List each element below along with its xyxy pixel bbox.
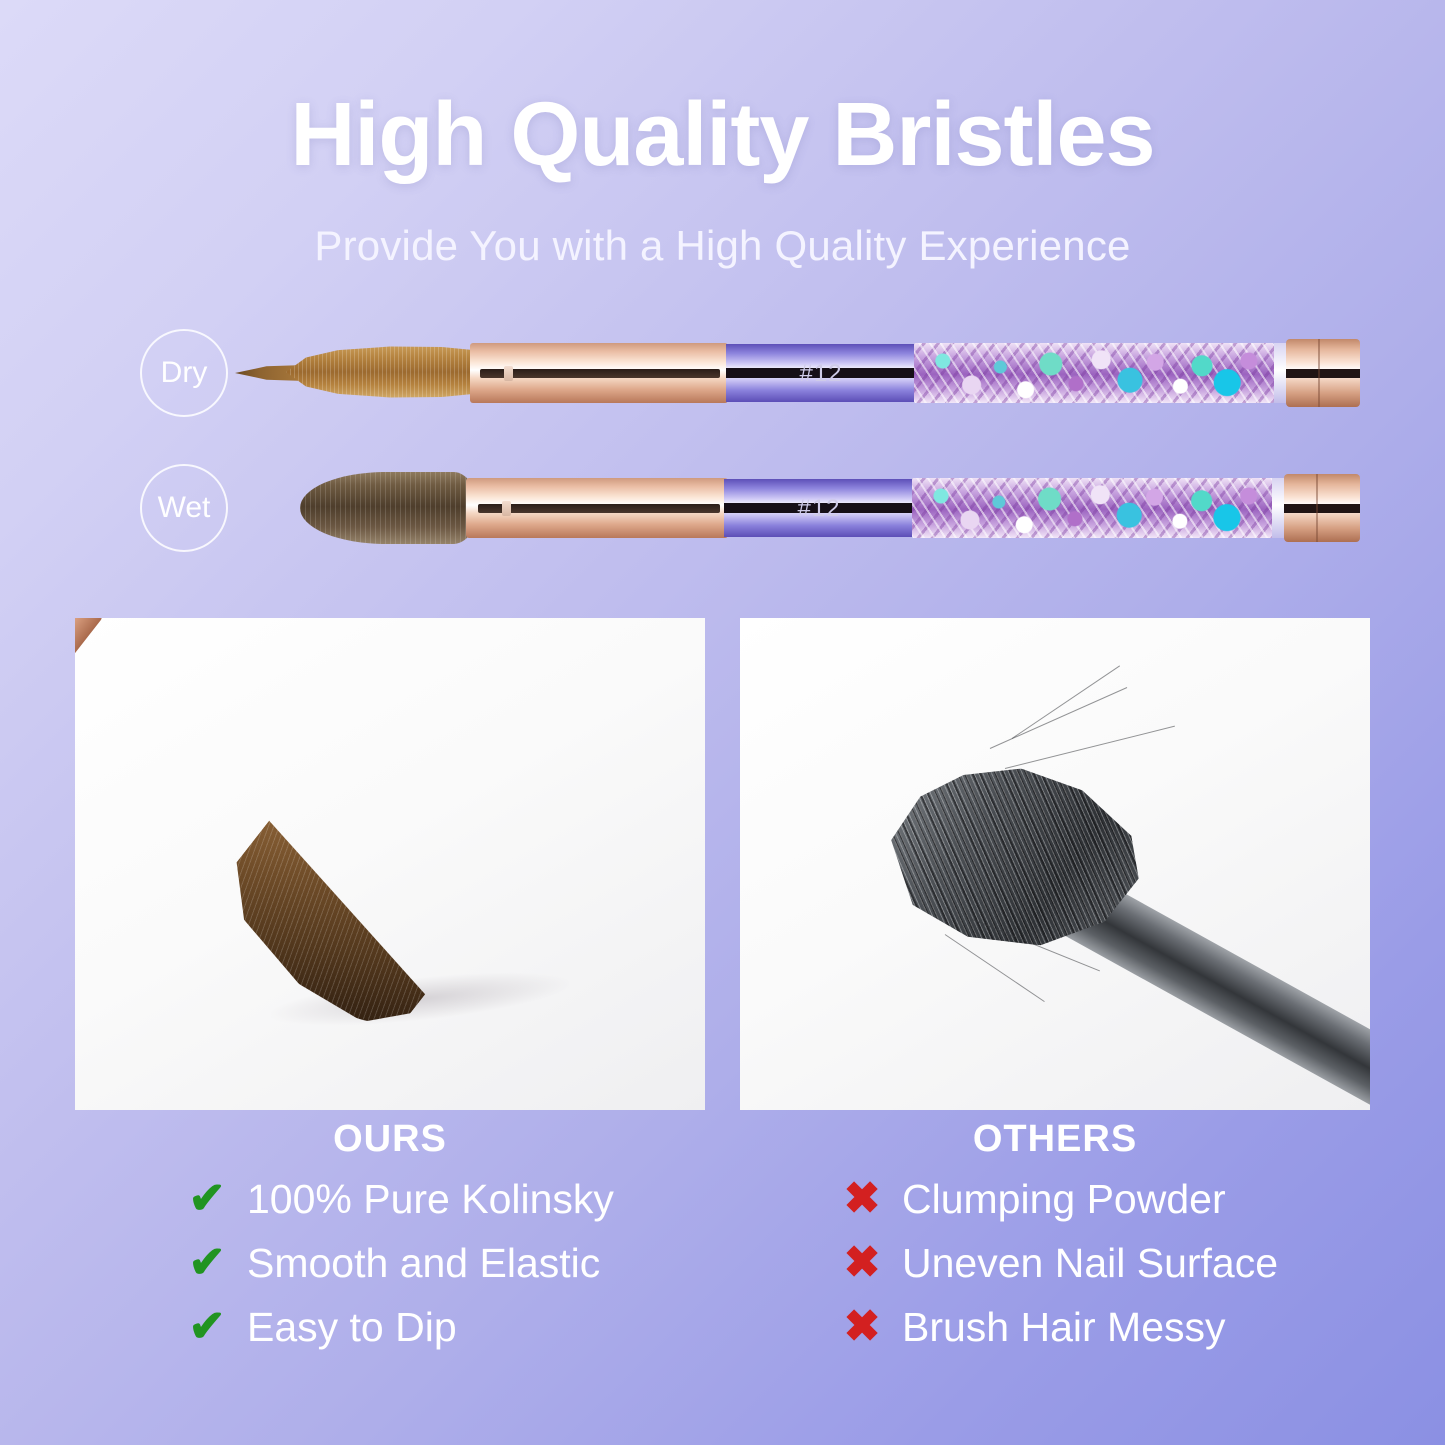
ferrule-nub-dry bbox=[504, 366, 513, 381]
brush-size-label-wet: #12 bbox=[774, 495, 864, 521]
end-cap-line-wet bbox=[1284, 504, 1360, 513]
stray-hair bbox=[990, 687, 1127, 749]
check-icon: ✔ bbox=[185, 1177, 229, 1221]
list-item: ✔ 100% Pure Kolinsky bbox=[75, 1168, 705, 1230]
bristle-dry-icon bbox=[286, 346, 486, 398]
state-badge-label: Dry bbox=[161, 356, 208, 390]
photo-others bbox=[740, 618, 1370, 1110]
stray-hair bbox=[1005, 726, 1175, 769]
photo-ours bbox=[75, 618, 705, 1110]
ferrule-slot-wet bbox=[478, 504, 720, 513]
list-item: ✖ Uneven Nail Surface bbox=[740, 1232, 1370, 1294]
stray-hair bbox=[1012, 665, 1120, 739]
glitter-cap-dry bbox=[1274, 343, 1286, 403]
brush-row-wet: Wet #12 bbox=[0, 440, 1445, 590]
end-cap-seam-wet bbox=[1316, 474, 1318, 542]
rose-gold-handle bbox=[75, 618, 103, 901]
feature-list-others: ✖ Clumping Powder ✖ Uneven Nail Surface … bbox=[740, 1168, 1370, 1360]
cross-icon: ✖ bbox=[840, 1241, 884, 1285]
stray-hair bbox=[945, 934, 1045, 1002]
feature-label: Easy to Dip bbox=[247, 1304, 457, 1351]
glitter-handle-dry bbox=[914, 343, 1274, 403]
column-title-others: OTHERS bbox=[740, 1118, 1370, 1161]
product-infographic: High Quality Bristles Provide You with a… bbox=[0, 0, 1445, 1445]
check-icon: ✔ bbox=[185, 1241, 229, 1285]
feature-list-ours: ✔ 100% Pure Kolinsky ✔ Smooth and Elasti… bbox=[75, 1168, 705, 1360]
brush-size-label-dry: #12 bbox=[776, 360, 866, 386]
list-item: ✖ Brush Hair Messy bbox=[740, 1296, 1370, 1358]
cross-icon: ✖ bbox=[840, 1177, 884, 1221]
state-badge-label: Wet bbox=[158, 491, 211, 525]
ferrule-nub-wet bbox=[502, 501, 511, 516]
list-item: ✔ Easy to Dip bbox=[75, 1296, 705, 1358]
page-subtitle: Provide You with a High Quality Experien… bbox=[0, 222, 1445, 270]
end-cap-line-dry bbox=[1286, 369, 1360, 378]
check-icon: ✔ bbox=[185, 1305, 229, 1349]
feature-label: Uneven Nail Surface bbox=[902, 1240, 1278, 1287]
feature-label: Smooth and Elastic bbox=[247, 1240, 600, 1287]
end-cap-seam-dry bbox=[1318, 339, 1320, 407]
glitter-cap-wet bbox=[1272, 478, 1284, 538]
column-title-ours: OURS bbox=[75, 1118, 705, 1161]
cross-icon: ✖ bbox=[840, 1305, 884, 1349]
state-badge-wet: Wet bbox=[140, 464, 228, 552]
ferrule-slot-dry bbox=[480, 369, 720, 378]
feature-label: Clumping Powder bbox=[902, 1176, 1226, 1223]
list-item: ✔ Smooth and Elastic bbox=[75, 1232, 705, 1294]
page-title: High Quality Bristles bbox=[0, 88, 1445, 183]
bristle-wet-icon bbox=[300, 472, 478, 544]
state-badge-dry: Dry bbox=[140, 329, 228, 417]
feature-label: 100% Pure Kolinsky bbox=[247, 1176, 614, 1223]
list-item: ✖ Clumping Powder bbox=[740, 1168, 1370, 1230]
glitter-handle-wet bbox=[912, 478, 1274, 538]
feature-label: Brush Hair Messy bbox=[902, 1304, 1226, 1351]
brush-row-dry: Dry #12 bbox=[0, 305, 1445, 455]
